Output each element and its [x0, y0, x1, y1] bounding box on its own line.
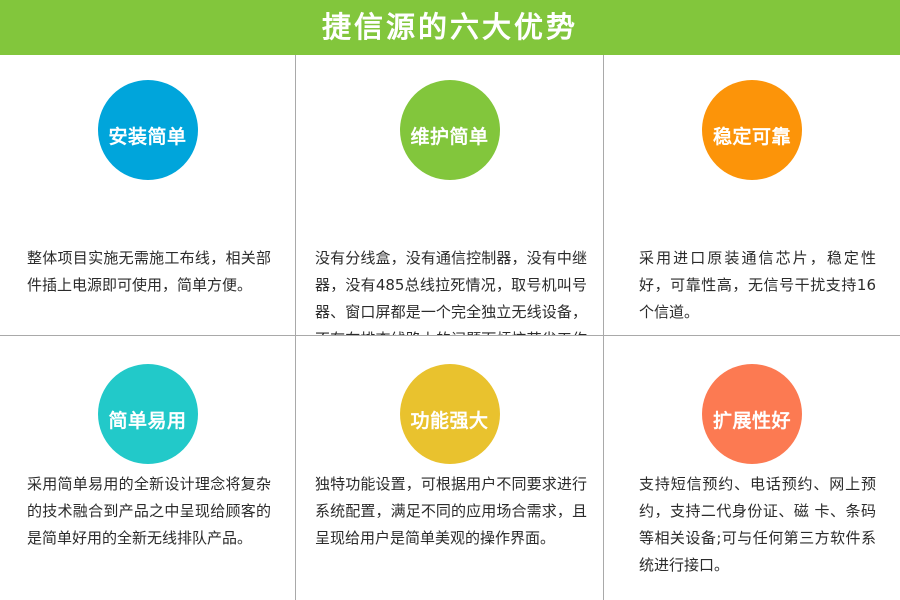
feature-badge-label: 稳定可靠 — [713, 128, 791, 147]
feature-badge-label: 维护简单 — [410, 128, 488, 147]
advantages-infographic: 捷信源的六大优势 安装简单 整体项目实施无需施工布线，相关部件插上电源即可使用，… — [0, 0, 900, 600]
feature-badge-label: 安装简单 — [108, 128, 186, 147]
feature-card-easy-to-use: 简单易用 采用简单易用的全新设计理念将复杂的技术融合到产品之中呈现给顾客的是简单… — [0, 335, 296, 600]
feature-badge-label: 简单易用 — [108, 412, 186, 431]
feature-description: 支持短信预约、电话预约、网上预约，支持二代身份证、磁 卡、条码等相关设备;可与任… — [639, 471, 876, 579]
feature-card-stable-reliable: 稳定可靠 采用进口原装通信芯片，稳定性好，可靠性高，无信号干扰支持16个信道。 — [604, 55, 900, 335]
feature-badge-label: 扩展性好 — [713, 412, 791, 431]
feature-description: 没有分线盒，没有通信控制器，没有中继器，没有485总线拉死情况，取号机叫号器、窗… — [315, 245, 587, 335]
feature-badge-circle: 功能强大 — [400, 364, 500, 464]
feature-card-powerful-functions: 功能强大 独特功能设置，可根据用户不同要求进行系统配置，满足不同的应用场合需求，… — [296, 335, 604, 600]
feature-badge-circle: 简单易用 — [98, 364, 198, 464]
feature-badge-circle: 维护简单 — [400, 80, 500, 180]
feature-badge-label: 功能强大 — [410, 412, 488, 431]
feature-grid: 安装简单 整体项目实施无需施工布线，相关部件插上电源即可使用，简单方便。 维护简… — [0, 55, 900, 600]
feature-description: 独特功能设置，可根据用户不同要求进行系统配置，满足不同的应用场合需求，且呈现给用… — [315, 471, 587, 552]
feature-card-maintenance-simple: 维护简单 没有分线盒，没有通信控制器，没有中继器，没有485总线拉死情况，取号机… — [296, 55, 604, 335]
page-title: 捷信源的六大优势 — [322, 13, 578, 42]
feature-description: 采用进口原装通信芯片，稳定性好，可靠性高，无信号干扰支持16个信道。 — [639, 245, 876, 326]
feature-description: 整体项目实施无需施工布线，相关部件插上电源即可使用，简单方便。 — [27, 245, 271, 299]
feature-badge-circle: 稳定可靠 — [702, 80, 802, 180]
feature-badge-circle: 扩展性好 — [702, 364, 802, 464]
feature-card-install-simple: 安装简单 整体项目实施无需施工布线，相关部件插上电源即可使用，简单方便。 — [0, 55, 296, 335]
page-header-banner: 捷信源的六大优势 — [0, 0, 900, 55]
feature-card-good-extensibility: 扩展性好 支持短信预约、电话预约、网上预约，支持二代身份证、磁 卡、条码等相关设… — [604, 335, 900, 600]
feature-description: 采用简单易用的全新设计理念将复杂的技术融合到产品之中呈现给顾客的是简单好用的全新… — [27, 471, 271, 552]
feature-badge-circle: 安装简单 — [98, 80, 198, 180]
